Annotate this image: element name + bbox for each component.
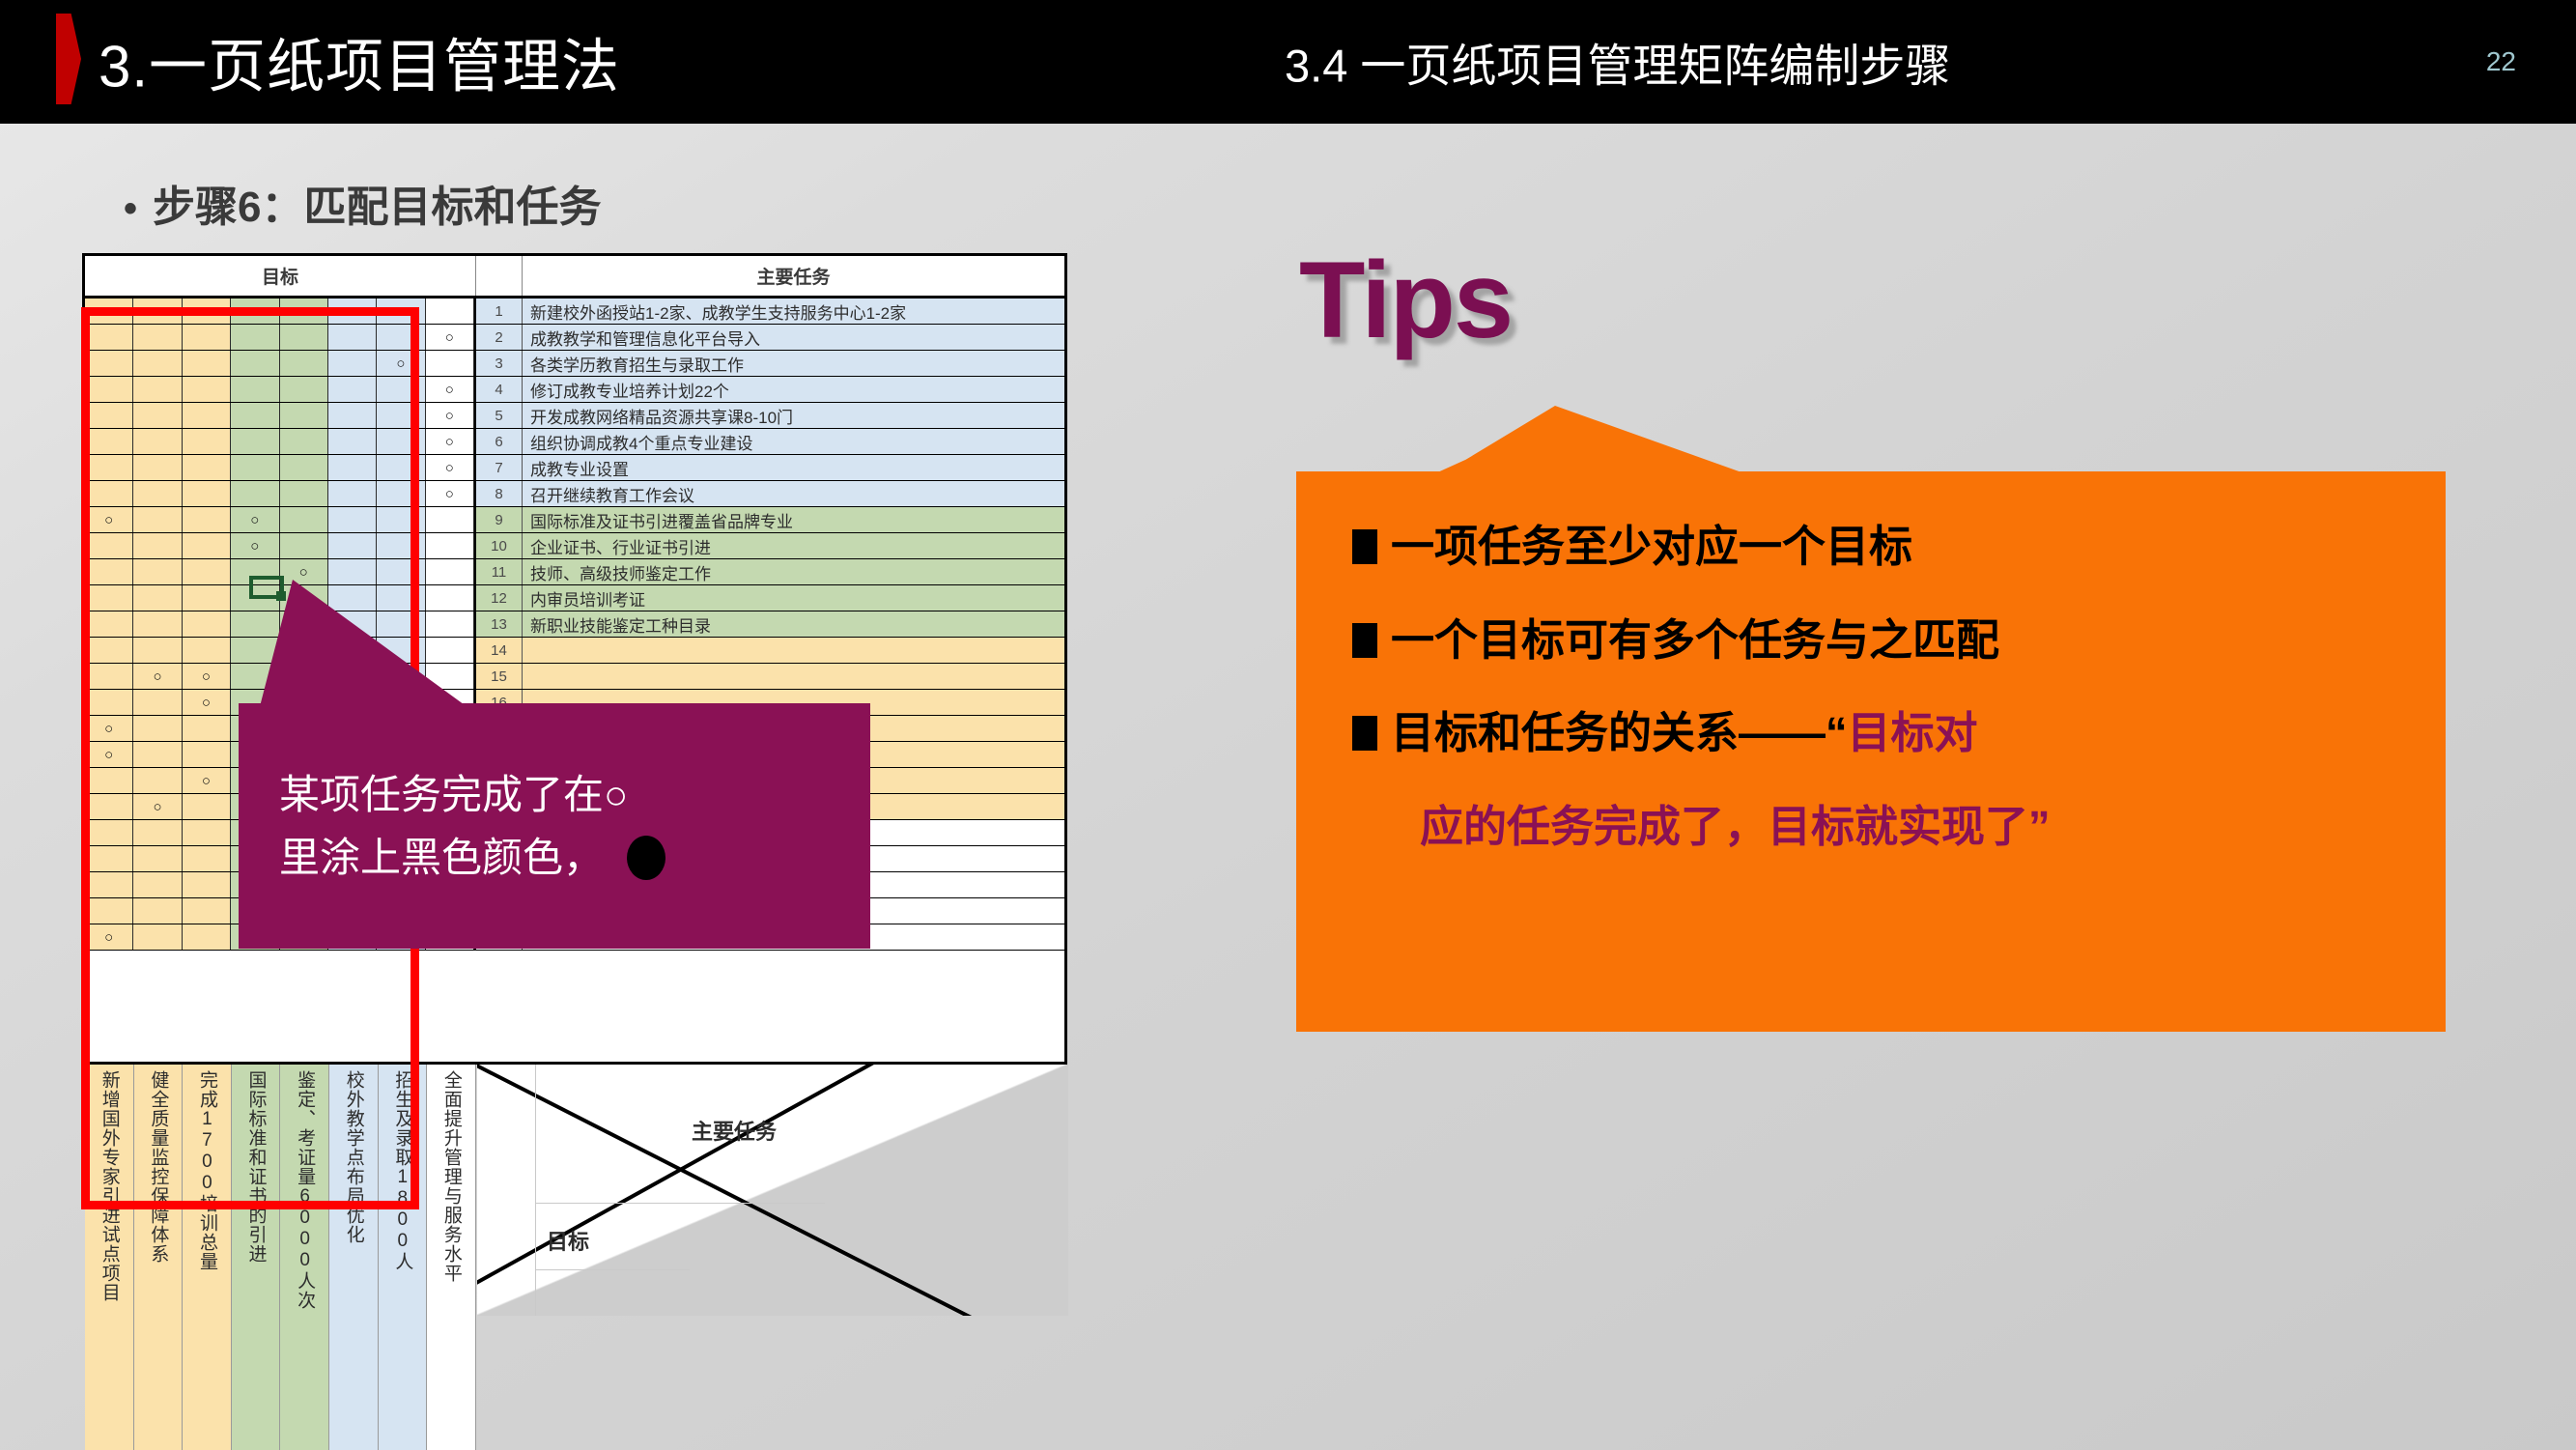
task-label: 企业证书、行业证书引进 <box>523 533 1064 558</box>
goal-cell[interactable] <box>133 872 182 897</box>
row-number: 2 <box>476 325 523 350</box>
goal-cell[interactable] <box>280 481 328 506</box>
goal-cell[interactable] <box>183 507 231 532</box>
goal-cell[interactable] <box>280 429 328 454</box>
goal-cells: ○ <box>85 455 476 480</box>
task-label: 开发成教网络精品资源共享课8-10门 <box>523 403 1064 428</box>
goal-cell[interactable]: ○ <box>377 351 425 376</box>
goal-cell[interactable] <box>426 507 474 532</box>
goal-column-label: 鉴定、考证量6000人次 <box>280 1065 329 1450</box>
table-row[interactable]: ○8召开继续教育工作会议 <box>85 481 1064 507</box>
goal-cell[interactable] <box>280 507 328 532</box>
goal-cell[interactable] <box>85 299 133 324</box>
goal-cell[interactable] <box>85 533 133 558</box>
goal-cell[interactable] <box>183 638 231 663</box>
goal-cell[interactable] <box>85 455 133 480</box>
goal-cell[interactable]: ○ <box>426 481 474 506</box>
goal-cell[interactable] <box>183 533 231 558</box>
goal-cell[interactable] <box>133 820 182 845</box>
goal-cell[interactable]: ○ <box>133 794 182 819</box>
goal-cell[interactable] <box>133 768 182 793</box>
tips-item: 一个目标可有多个任务与之匹配 <box>1352 617 2434 665</box>
goal-cell[interactable] <box>183 585 231 611</box>
table-row[interactable]: ○5开发成教网络精品资源共享课8-10门 <box>85 403 1064 429</box>
goal-cell[interactable] <box>133 742 182 767</box>
goal-cell[interactable] <box>133 429 182 454</box>
goal-cell[interactable] <box>280 403 328 428</box>
table-row[interactable]: ○3各类学历教育招生与录取工作 <box>85 351 1064 377</box>
goal-cell[interactable] <box>426 299 474 324</box>
section-subtitle: 3.4 一页纸项目管理矩阵编制步骤 <box>1285 29 1950 96</box>
goal-cell[interactable] <box>183 403 231 428</box>
goal-cell[interactable] <box>328 403 377 428</box>
step-label: 步骤6：匹配目标和任务 <box>153 184 601 231</box>
goal-cell[interactable] <box>183 820 231 845</box>
goal-cell[interactable] <box>85 690 133 715</box>
table-row[interactable]: ○7成教专业设置 <box>85 455 1064 481</box>
red-flag-icon <box>56 14 81 104</box>
task-label: 成教教学和管理信息化平台导入 <box>523 325 1064 350</box>
task-label: 成教专业设置 <box>523 455 1064 480</box>
tips-item: 目标和任务的关系——“目标对 <box>1352 710 2434 757</box>
goal-cell[interactable] <box>85 898 133 924</box>
table-row[interactable]: ○○9国际标准及证书引进覆盖省品牌专业 <box>85 507 1064 533</box>
goal-cell[interactable] <box>85 846 133 871</box>
square-bullet-icon <box>1352 529 1377 564</box>
goal-cell[interactable] <box>133 455 182 480</box>
goal-cell[interactable]: ○ <box>426 455 474 480</box>
row-number: 5 <box>476 403 523 428</box>
goal-cell[interactable] <box>183 481 231 506</box>
goal-cell[interactable]: ○ <box>85 924 133 950</box>
goal-cell[interactable] <box>85 403 133 428</box>
tips-item-text: 一项任务至少对应一个目标 <box>1391 524 1912 571</box>
goal-cell[interactable] <box>133 638 182 663</box>
fold-horizontal-line-1 <box>535 1203 825 1204</box>
goal-cell[interactable] <box>231 325 279 350</box>
row-number: 7 <box>476 455 523 480</box>
square-bullet-icon <box>1352 716 1377 751</box>
goal-cell[interactable] <box>231 403 279 428</box>
fold-horizontal-line-2 <box>535 1269 690 1270</box>
goal-cells: ○ <box>85 325 476 350</box>
goal-cell[interactable] <box>183 846 231 871</box>
callout-line-2: 里涂上黑色颜色， <box>279 826 604 889</box>
tips-item-continuation: 应的任务完成了，目标就实现了” <box>1352 804 2434 851</box>
goal-cell[interactable] <box>426 351 474 376</box>
goal-column-label: 国际标准和证书的引进 <box>232 1065 281 1450</box>
task-label: 技师、高级技师鉴定工作 <box>523 559 1064 584</box>
goal-cells: ○ <box>85 481 476 506</box>
goal-cells: ○ <box>85 351 476 376</box>
goal-cell[interactable] <box>133 403 182 428</box>
slide-number: 22 <box>2486 46 2516 77</box>
fold-shadow <box>477 1065 1068 1316</box>
goal-cell[interactable] <box>183 716 231 741</box>
goal-cell[interactable] <box>133 585 182 611</box>
goal-cell[interactable] <box>133 299 182 324</box>
tips-item: 一项任务至少对应一个目标 <box>1352 524 2434 571</box>
goal-cell[interactable] <box>133 481 182 506</box>
goal-cell[interactable] <box>328 325 377 350</box>
goal-column-label: 全面提升管理与服务水平 <box>427 1065 476 1450</box>
goal-cell[interactable]: ○ <box>183 690 231 715</box>
goal-header-cell: 目标 <box>85 256 476 296</box>
task-label: 修订成教专业培养计划22个 <box>523 377 1064 402</box>
goal-cell[interactable] <box>183 872 231 897</box>
goal-cell[interactable] <box>183 325 231 350</box>
callout-line-1: 某项任务完成了在○ <box>279 763 830 826</box>
tips-item-continuation-text: 应的任务完成了，目标就实现了” <box>1420 804 2051 851</box>
goal-cell[interactable] <box>280 533 328 558</box>
number-header-cell <box>476 256 523 296</box>
goal-cell[interactable] <box>133 898 182 924</box>
goal-cell[interactable] <box>328 455 377 480</box>
goal-cell[interactable]: ○ <box>85 507 133 532</box>
goal-column-label: 完成1700培训总量 <box>183 1065 232 1450</box>
goal-cell[interactable] <box>183 611 231 637</box>
goal-cell[interactable] <box>85 377 133 402</box>
goal-cell[interactable] <box>426 533 474 558</box>
tips-item-main: 一个目标可有多个任务与之匹配 <box>1391 615 1999 665</box>
row-number: 9 <box>476 507 523 532</box>
goal-cell[interactable]: ○ <box>133 664 182 689</box>
goal-cell[interactable] <box>85 638 133 663</box>
goal-cell[interactable] <box>183 742 231 767</box>
table-row[interactable]: 14 <box>85 638 1064 664</box>
goal-cell[interactable] <box>280 299 328 324</box>
row-number: 1 <box>476 299 523 324</box>
goal-cell[interactable] <box>231 299 279 324</box>
table-row[interactable]: ○○15 <box>85 664 1064 690</box>
goal-cell[interactable] <box>328 351 377 376</box>
goal-cell[interactable] <box>328 507 377 532</box>
callout-text: 某项任务完成了在○ 里涂上黑色颜色， <box>239 703 870 949</box>
tips-item-text: 一个目标可有多个任务与之匹配 <box>1391 617 1999 665</box>
goal-cell[interactable]: ○ <box>426 377 474 402</box>
goal-cell[interactable]: ○ <box>328 299 377 324</box>
goal-cell[interactable]: ○ <box>85 742 133 767</box>
goal-cell[interactable] <box>280 455 328 480</box>
callout-line-2-wrap: 里涂上黑色颜色， <box>279 826 830 889</box>
row-number: 8 <box>476 481 523 506</box>
task-label: 新建校外函授站1-2家、成教学生支持服务中心1-2家 <box>523 299 1064 324</box>
goal-cells: ○○ <box>85 507 476 532</box>
goal-cell[interactable]: ○ <box>231 507 279 532</box>
goal-cell[interactable] <box>377 507 425 532</box>
goal-cell[interactable] <box>133 507 182 532</box>
goal-cell[interactable] <box>328 481 377 506</box>
goal-cell[interactable] <box>328 533 377 558</box>
task-label: 组织协调成教4个重点专业建设 <box>523 429 1064 454</box>
tips-item-text: 目标和任务的关系——“目标对 <box>1391 710 1978 757</box>
goal-cell[interactable] <box>85 872 133 897</box>
goal-cells: ○ <box>85 403 476 428</box>
goal-cell[interactable] <box>280 325 328 350</box>
row-number: 10 <box>476 533 523 558</box>
goal-cell[interactable] <box>183 351 231 376</box>
sheet-fold-corner: 主要任务 目标 <box>477 1065 1068 1316</box>
goal-cell[interactable] <box>133 351 182 376</box>
goal-cell[interactable] <box>133 846 182 871</box>
row-number: 3 <box>476 351 523 376</box>
goal-cell[interactable] <box>231 377 279 402</box>
table-row[interactable]: ○6组织协调成教4个重点专业建设 <box>85 429 1064 455</box>
goal-cells: ○ <box>85 429 476 454</box>
goal-column-label: 校外教学点布局优化 <box>329 1065 379 1450</box>
goal-cell[interactable] <box>377 403 425 428</box>
goal-cell[interactable]: ○ <box>183 664 231 689</box>
goal-cell[interactable] <box>377 455 425 480</box>
goal-cell[interactable] <box>133 533 182 558</box>
goal-cells: ○ <box>85 533 476 558</box>
goal-cell[interactable] <box>328 377 377 402</box>
table-row[interactable]: ○2成教教学和管理信息化平台导入 <box>85 325 1064 351</box>
goal-cell[interactable] <box>85 768 133 793</box>
goal-cell[interactable] <box>183 455 231 480</box>
goal-cell[interactable] <box>85 585 133 611</box>
task-label <box>523 638 1064 663</box>
goal-cell[interactable] <box>133 559 182 584</box>
table-row[interactable]: ○13新职业技能鉴定工种目录 <box>85 611 1064 638</box>
goal-cell[interactable] <box>328 429 377 454</box>
page-title: 3.一页纸项目管理法 <box>99 20 620 104</box>
goal-cell[interactable] <box>133 690 182 715</box>
goal-cell[interactable] <box>85 664 133 689</box>
goal-cell[interactable] <box>85 820 133 845</box>
goal-cell[interactable] <box>377 299 425 324</box>
goal-cell[interactable]: ○ <box>183 768 231 793</box>
goal-cell[interactable] <box>85 794 133 819</box>
goal-cell[interactable]: ○ <box>426 403 474 428</box>
goal-cell[interactable] <box>85 481 133 506</box>
callout-box: 某项任务完成了在○ 里涂上黑色颜色， <box>239 703 870 949</box>
task-label: 内审员培训考证 <box>523 585 1064 611</box>
goal-cell[interactable] <box>133 924 182 950</box>
goal-cell[interactable] <box>85 611 133 637</box>
goal-cell[interactable] <box>377 377 425 402</box>
goal-cell[interactable] <box>85 429 133 454</box>
goal-cell[interactable] <box>183 794 231 819</box>
goal-column-label: 新增国外专家引进试点项目 <box>85 1065 134 1450</box>
tips-item-main: 目标和任务的关系——“ <box>1391 708 1848 757</box>
matrix-header-row: 目标 主要任务 <box>85 256 1064 299</box>
header-bar: 3.一页纸项目管理法 3.4 一页纸项目管理矩阵编制步骤 22 <box>0 0 2576 124</box>
goal-cell[interactable] <box>231 481 279 506</box>
goal-cell[interactable] <box>183 898 231 924</box>
task-label <box>523 664 1064 689</box>
row-number: 6 <box>476 429 523 454</box>
goal-cell[interactable] <box>183 299 231 324</box>
goal-cell[interactable] <box>280 351 328 376</box>
tips-item-main: 一项任务至少对应一个目标 <box>1391 522 1912 571</box>
goal-cell[interactable] <box>377 481 425 506</box>
goal-cell[interactable] <box>85 351 133 376</box>
task-label: 国际标准及证书引进覆盖省品牌专业 <box>523 507 1064 532</box>
goal-column-label: 招生及录取1800人 <box>379 1065 428 1450</box>
table-row[interactable]: ○10企业证书、行业证书引进 <box>85 533 1064 559</box>
goal-column-label: 健全质量监控保障体系 <box>134 1065 184 1450</box>
tips-item-highlight: 目标对 <box>1848 708 1978 757</box>
step-heading: •步骤6：匹配目标和任务 <box>124 172 602 234</box>
task-label: 各类学历教育招生与录取工作 <box>523 351 1064 376</box>
goal-cell[interactable] <box>85 559 133 584</box>
table-row[interactable]: ○11技师、高级技师鉴定工作 <box>85 559 1064 585</box>
goal-cell[interactable] <box>183 559 231 584</box>
goal-cell[interactable] <box>377 533 425 558</box>
goal-cell[interactable]: ○ <box>426 325 474 350</box>
goal-cell[interactable] <box>133 377 182 402</box>
task-label: 召开继续教育工作会议 <box>523 481 1064 506</box>
table-row[interactable]: ○12内审员培训考证 <box>85 585 1064 611</box>
goal-cells: ○ <box>85 299 476 324</box>
goal-cell[interactable] <box>280 377 328 402</box>
fold-task-label: 主要任务 <box>692 1115 777 1146</box>
goal-cell[interactable] <box>231 429 279 454</box>
goal-cell[interactable]: ○ <box>426 429 474 454</box>
goal-cell[interactable] <box>133 716 182 741</box>
goal-cell[interactable] <box>231 455 279 480</box>
square-bullet-icon <box>1352 623 1377 658</box>
goal-cell[interactable] <box>183 377 231 402</box>
task-label: 新职业技能鉴定工种目录 <box>523 611 1064 637</box>
row-number: 4 <box>476 377 523 402</box>
goal-cell[interactable]: ○ <box>85 716 133 741</box>
bullet-icon: • <box>124 187 137 230</box>
goal-label-strip: 新增国外专家引进试点项目健全质量监控保障体系完成1700培训总量国际标准和证书的… <box>85 1065 477 1450</box>
goal-cell[interactable] <box>377 325 425 350</box>
tips-title: Tips <box>1299 238 1512 362</box>
goal-cells: ○ <box>85 377 476 402</box>
goal-cell[interactable] <box>85 325 133 350</box>
fold-goal-label: 目标 <box>547 1225 589 1256</box>
task-header-cell: 主要任务 <box>523 256 1064 296</box>
goal-cell[interactable]: ○ <box>231 533 279 558</box>
goal-cell[interactable] <box>133 611 182 637</box>
goal-cell[interactable] <box>183 429 231 454</box>
goal-cell[interactable] <box>133 325 182 350</box>
goal-cell[interactable] <box>231 351 279 376</box>
fold-vertical-line <box>535 1065 536 1316</box>
filled-circle-icon <box>627 836 665 880</box>
tips-list: 一项任务至少对应一个目标一个目标可有多个任务与之匹配目标和任务的关系——“目标对… <box>1352 524 2434 896</box>
table-row[interactable]: ○1新建校外函授站1-2家、成教学生支持服务中心1-2家 <box>85 299 1064 325</box>
goal-cell[interactable] <box>377 429 425 454</box>
goal-cell[interactable] <box>183 924 231 950</box>
table-row[interactable]: ○4修订成教专业培养计划22个 <box>85 377 1064 403</box>
